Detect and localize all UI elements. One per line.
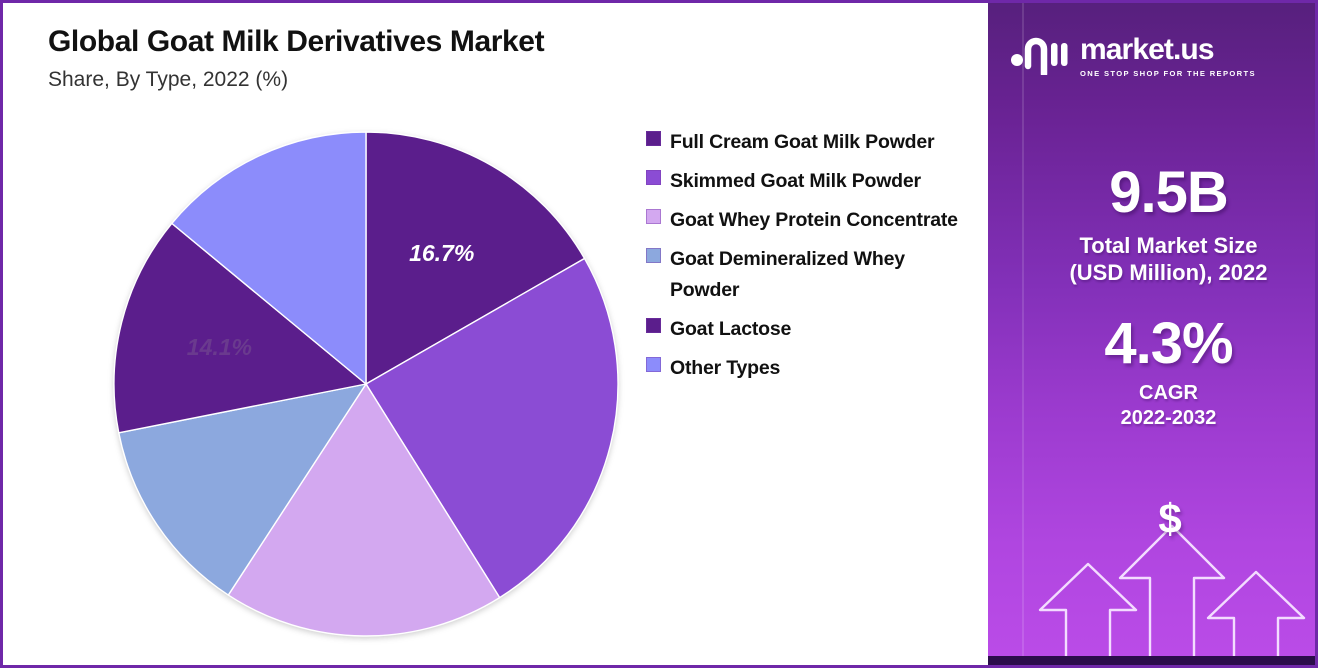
legend-swatch-icon xyxy=(646,170,661,185)
legend-item-label: Goat Lactose xyxy=(670,314,791,345)
pie-chart: 16.7%14.1% xyxy=(107,125,625,643)
legend-item-label: Goat Whey Protein Concentrate xyxy=(670,205,958,236)
legend-swatch-icon xyxy=(646,318,661,333)
legend-item-label: Goat Demineralized Whey Powder xyxy=(670,244,976,306)
legend-item[interactable]: Other Types xyxy=(646,353,976,384)
pie-slice-group xyxy=(114,132,618,636)
legend-item[interactable]: Goat Whey Protein Concentrate xyxy=(646,205,976,236)
legend-item[interactable]: Goat Lactose xyxy=(646,314,976,345)
chart-legend: Full Cream Goat Milk PowderSkimmed Goat … xyxy=(646,127,976,392)
pie-slice-label: 16.7% xyxy=(409,240,474,266)
legend-item-label: Full Cream Goat Milk Powder xyxy=(670,127,934,158)
legend-item[interactable]: Goat Demineralized Whey Powder xyxy=(646,244,976,306)
legend-swatch-icon xyxy=(646,131,661,146)
baseline-bar xyxy=(988,656,1318,665)
cagr-label: CAGR xyxy=(1022,381,1315,406)
growth-arrows-graphic: $ xyxy=(1022,490,1318,665)
market-size-value: 9.5B xyxy=(1022,163,1315,224)
legend-item-label: Skimmed Goat Milk Powder xyxy=(670,166,921,197)
brand-text: market.us ONE STOP SHOP FOR THE REPORTS xyxy=(1080,35,1256,78)
legend-swatch-icon xyxy=(646,209,661,224)
chart-subtitle: Share, By Type, 2022 (%) xyxy=(48,68,544,92)
dollar-sign-icon: $ xyxy=(1022,498,1318,540)
legend-item-label: Other Types xyxy=(670,353,780,384)
page-title: Global Goat Milk Derivatives Market xyxy=(48,25,544,59)
stats-panel: market.us ONE STOP SHOP FOR THE REPORTS … xyxy=(988,0,1318,668)
brand-name: market.us xyxy=(1080,35,1256,65)
stats-block: 9.5B Total Market Size (USD Million), 20… xyxy=(1022,163,1315,431)
cagr-value: 4.3% xyxy=(1022,314,1315,375)
title-block: Global Goat Milk Derivatives Market Shar… xyxy=(48,25,544,92)
brand-tagline: ONE STOP SHOP FOR THE REPORTS xyxy=(1080,69,1256,78)
infographic-root: Global Goat Milk Derivatives Market Shar… xyxy=(0,0,1318,668)
cagr-block: 4.3% CAGR 2022-2032 xyxy=(1022,314,1315,431)
cagr-period: 2022-2032 xyxy=(1022,406,1315,431)
market-size-label: Total Market Size (USD Million), 2022 xyxy=(1022,232,1315,286)
legend-item[interactable]: Skimmed Goat Milk Powder xyxy=(646,166,976,197)
pie-chart-svg: 16.7%14.1% xyxy=(107,125,625,643)
market-size-label-line2: (USD Million), 2022 xyxy=(1069,260,1267,285)
chart-card: Global Goat Milk Derivatives Market Shar… xyxy=(0,0,988,668)
brand-logo[interactable]: market.us ONE STOP SHOP FOR THE REPORTS xyxy=(1008,33,1308,80)
legend-swatch-icon xyxy=(646,357,661,372)
pie-slice-label: 14.1% xyxy=(187,334,252,360)
legend-swatch-icon xyxy=(646,248,661,263)
market-us-logo-icon xyxy=(1008,33,1070,80)
market-size-label-line1: Total Market Size xyxy=(1079,233,1257,258)
legend-item[interactable]: Full Cream Goat Milk Powder xyxy=(646,127,976,158)
